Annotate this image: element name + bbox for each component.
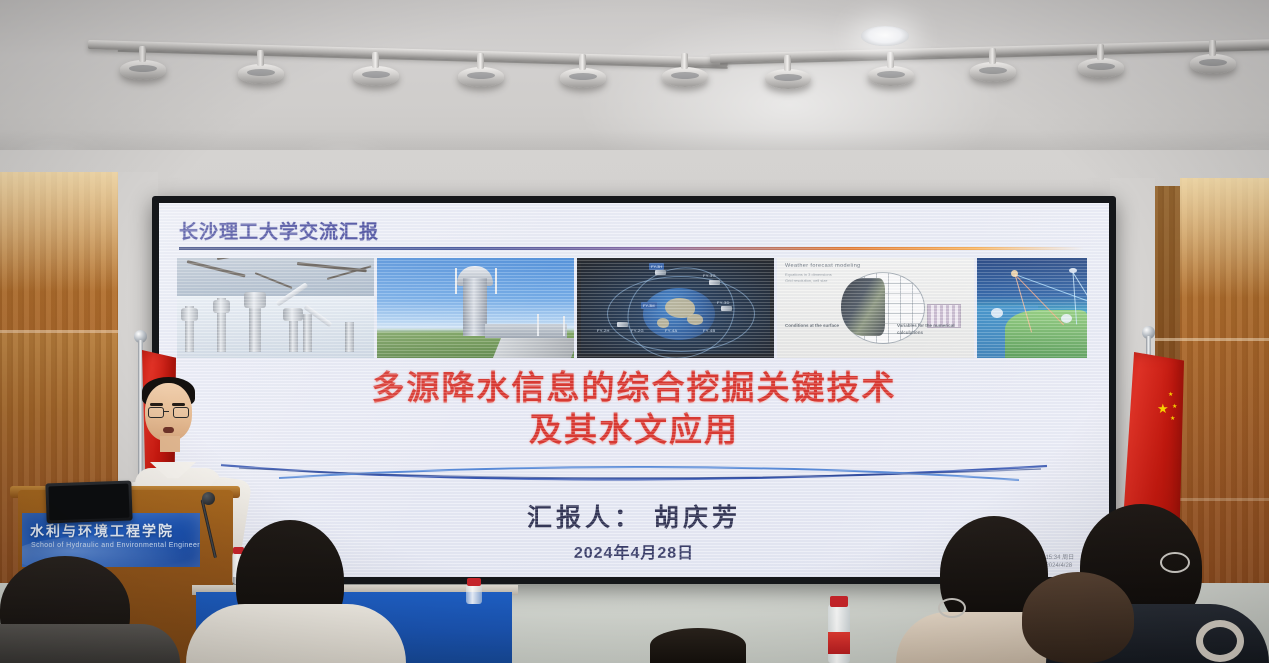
audience-head [650, 628, 746, 663]
satellite-label: FY-4B [703, 328, 715, 333]
podium-banner-subtitle: School of Hydraulic and Environmental En… [31, 542, 200, 549]
slide-header: 长沙理工大学交流汇报 [179, 217, 1089, 244]
bottle-cap [830, 596, 848, 607]
glasses-lens-left [148, 407, 164, 418]
audience-glasses [1160, 552, 1190, 573]
track-spotlight [765, 69, 811, 89]
track-spotlight [970, 62, 1016, 82]
speaker-neck [160, 436, 180, 452]
speaker-brow [150, 403, 163, 406]
fengyun-satellite-constellation-image: FY-3H FY-3G FY-3D FY-3M FY-2H FY-2G FY-4… [577, 258, 774, 358]
wood-panel-left-highlight [0, 172, 118, 292]
wood-seam [1151, 338, 1269, 341]
speaker-mouth [163, 427, 174, 433]
recessed-downlight [861, 26, 909, 46]
global-observing-system-image [977, 258, 1087, 358]
weather-forecast-modeling-image: Weather forecast modeling Equations in 3… [777, 258, 974, 358]
forecast-col2-header: Variables for the numerical calculations [897, 323, 955, 335]
forecast-panel-title: Weather forecast modeling [785, 263, 861, 269]
bottle-cap [467, 578, 481, 586]
audience-shoulders [0, 624, 180, 663]
forecast-panel-subtitle: Equations in 3 dimensions Grid resolutio… [785, 272, 832, 284]
track-spotlight [662, 67, 708, 87]
globe-cutaway [841, 278, 885, 336]
satellite-label: FY-3G [703, 273, 716, 278]
track-spotlight [458, 67, 504, 87]
flag-star-small: ★ [1168, 392, 1173, 398]
road [493, 338, 574, 358]
track-spotlight [1190, 54, 1236, 74]
satellite-label: FY-3H [649, 263, 664, 270]
weather-radar-dome-image [377, 258, 574, 358]
track-spotlight [238, 64, 284, 84]
wood-panel-right-highlight [1180, 178, 1269, 298]
audience-shoulders [186, 604, 406, 663]
flag-star-small: ★ [1172, 404, 1177, 410]
status-time: 15:34 周日 [1045, 554, 1074, 563]
speaker-brow [172, 403, 185, 406]
microphone-head [202, 492, 215, 505]
radar-tower [463, 278, 487, 336]
radar-building [485, 324, 567, 338]
rain-gauge-station-snow-image [177, 258, 374, 358]
slide-title-line1: 多源降水信息的综合挖掘关键技术 [159, 367, 1109, 409]
satellite-label: FY-3M [641, 302, 657, 309]
track-spotlight [868, 66, 914, 86]
flag-star-small: ★ [1170, 416, 1175, 422]
track-spotlight [560, 68, 606, 88]
satellite-label: FY-2H [597, 328, 610, 333]
speaker-head [145, 383, 192, 441]
audience-head [1022, 572, 1134, 663]
forecast-col1-header: Conditions at the surface [785, 323, 839, 328]
slide-title: 多源降水信息的综合挖掘关键技术 及其水文应用 [159, 367, 1109, 451]
laptop[interactable] [45, 481, 132, 524]
water-bottle[interactable] [466, 584, 482, 604]
glasses-lens-right [173, 407, 189, 418]
satellite-label: FY-3D [717, 300, 730, 305]
podium-banner-title: 水利与环境工程学院 [30, 521, 174, 541]
satellite-label: FY-2G [631, 328, 644, 333]
track-spotlight [1078, 58, 1124, 78]
audience-glasses [938, 598, 966, 618]
slide-image-strip: FY-3H FY-3G FY-3D FY-3M FY-2H FY-2G FY-4… [177, 258, 1087, 358]
bottle-label [828, 632, 850, 654]
slide-header-rule [179, 247, 1084, 250]
status-date: 2024/4/28 [1045, 562, 1074, 571]
audience-hair-tie [1196, 620, 1244, 662]
flag-star-large: ★ [1157, 402, 1169, 415]
decorative-swoosh [219, 461, 1049, 487]
track-spotlight [353, 66, 399, 86]
slide-header-text: 长沙理工大学交流汇报 [179, 217, 1089, 244]
presentation-photo-scene: 长沙理工大学交流汇报 [0, 0, 1269, 663]
track-spotlight [120, 60, 166, 80]
glasses-bridge [163, 411, 169, 412]
satellite-label: FY-4A [665, 328, 677, 333]
laptop-screen [48, 484, 129, 521]
slide-title-line2: 及其水文应用 [159, 409, 1109, 451]
